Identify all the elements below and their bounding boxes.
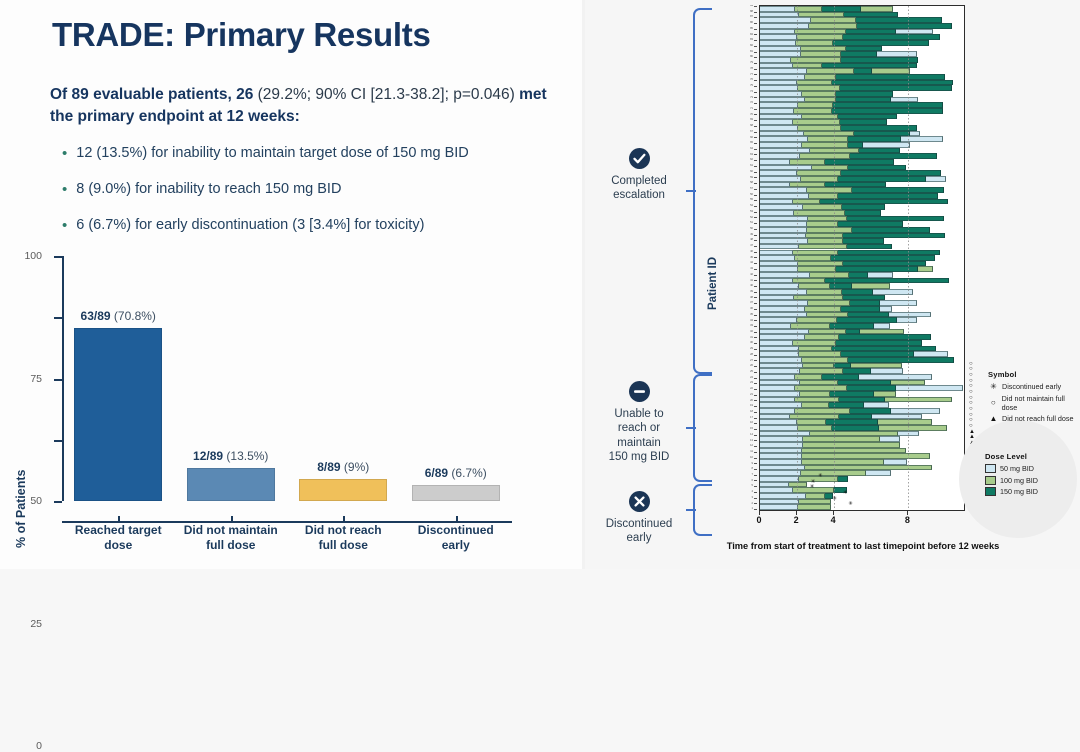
bar-chart-y-tick-label: 75 xyxy=(30,373,42,385)
swimmer-patient-id-tick: 57 xyxy=(750,188,757,191)
bar-chart-y-axis-label: % of Patients xyxy=(14,470,28,549)
bar-chart-y-tick: 75 xyxy=(54,317,62,319)
swimmer-patient-id-tick: 38 xyxy=(750,297,757,300)
dose-swatch xyxy=(985,464,996,473)
swimmer-patient-id-tick: 24 xyxy=(750,377,757,380)
bar xyxy=(412,485,500,501)
swimmer-patient-id-tick: 8 xyxy=(752,468,757,471)
bar-value-label: 12/89 (13.5%) xyxy=(193,449,268,463)
legend-symbol-title: Symbol xyxy=(988,370,1080,379)
bar-chart-bar-group: 12/89 (13.5%) xyxy=(175,256,288,501)
legend-item: 150 mg BID xyxy=(985,487,1077,496)
swimmer-patient-id-tick: 80 xyxy=(750,56,757,59)
slide-root: TRADE: Primary Results Of 89 evaluable p… xyxy=(0,0,1080,569)
swimmer-patient-id-tick: 35 xyxy=(750,314,757,317)
bullet-list: • 12 (13.5%) for inability to maintain t… xyxy=(62,144,582,252)
swimmer-patient-id-tick: 73 xyxy=(750,97,757,100)
bar-chart: % of Patients 0255075100 63/89 (70.8%)12… xyxy=(0,248,585,548)
swimmer-patient-id-tick: 89 xyxy=(750,5,757,8)
swimmer-dose-segment xyxy=(798,504,831,510)
brace-nub xyxy=(686,509,696,511)
list-item: • 8 (9.0%) for inability to reach 150 mg… xyxy=(62,180,582,198)
swimmer-patient-id-tick: 69 xyxy=(750,119,757,122)
bar-chart-category-label: Did not reachfull dose xyxy=(287,523,400,553)
legend-item-label: Did not maintain full dose xyxy=(1002,394,1080,412)
legend-item: ○ Did not maintain full dose xyxy=(988,394,1080,412)
swimmer-patient-id-tick: 64 xyxy=(750,148,757,151)
dose-swatch xyxy=(985,476,996,485)
swimmer-patient-id-tick: 61 xyxy=(750,165,757,168)
swimmer-patient-id-tick: 33 xyxy=(750,325,757,328)
swimmer-patient-id-tick: 83 xyxy=(750,39,757,42)
brace-unable-to-reach-or-maintain xyxy=(693,374,712,482)
dose-swatch xyxy=(985,487,996,496)
swimmer-patient-id-tick: 19 xyxy=(750,405,757,408)
legend-item: ✳ Discontinued early xyxy=(988,382,1080,391)
swimmer-patient-id-tick: 32 xyxy=(750,331,757,334)
swimmer-patient-id-tick: 12 xyxy=(750,445,757,448)
swimmer-dose-segment xyxy=(760,504,798,510)
swimmer-patient-id-tick: 55 xyxy=(750,199,757,202)
bar-chart-y-tick: 25 xyxy=(54,440,62,442)
swimmer-x-axis: 0248 xyxy=(759,511,965,519)
bar-chart-y-tick-label: 100 xyxy=(24,250,42,262)
list-item: • 6 (6.7%) for early discontinuation (3 … xyxy=(62,216,582,234)
legend-dose-level: Dose Level 50 mg BID 100 mg BID 150 mg B… xyxy=(985,452,1077,499)
left-panel: TRADE: Primary Results Of 89 evaluable p… xyxy=(0,0,585,569)
swimmer-patient-id-tick: 2 xyxy=(752,503,757,506)
annotation-label-line: Discontinued xyxy=(606,518,672,530)
bar-chart-category-label: Did not maintainfull dose xyxy=(175,523,288,553)
annotation-label-line: early xyxy=(627,532,652,544)
bullet-dot-icon: • xyxy=(62,218,67,233)
swimmer-patient-id-tick: 36 xyxy=(750,308,757,311)
marker-discontinued-early: ✳ xyxy=(832,497,837,503)
annotation-label-line: reach or xyxy=(618,422,660,434)
swimmer-patient-id-tick: 67 xyxy=(750,131,757,134)
swimmer-patient-id-tick: 29 xyxy=(750,348,757,351)
legend-item-label: 50 mg BID xyxy=(1000,464,1034,473)
swimmer-patient-id-tick: 81 xyxy=(750,51,757,54)
check-circle-icon xyxy=(629,148,650,169)
open-circle-icon: ○ xyxy=(988,399,999,407)
lede-part1: Of 89 evaluable patients, 26 xyxy=(50,86,253,103)
swimmer-patient-id-tick: 40 xyxy=(750,285,757,288)
marker-discontinued-early: ✳ xyxy=(818,474,823,480)
swimmer-patient-id-tick: 84 xyxy=(750,34,757,37)
bar-chart-x-tick xyxy=(456,516,458,523)
marker-discontinued-early: ✳ xyxy=(810,485,815,491)
swimmer-patient-id-tick: 10 xyxy=(750,457,757,460)
triangle-icon: ▲ xyxy=(988,415,999,423)
swimmer-patient-id-tick: 20 xyxy=(750,400,757,403)
annotation-unable-to-reach-or-maintain: Unable to reach or maintain 150 mg BID xyxy=(591,381,687,465)
swimmer-patient-id-tick: 6 xyxy=(752,480,757,483)
swimmer-patient-id-ticks: 8988878685848382818079787776757473727170… xyxy=(735,5,757,511)
swimmer-bar-row xyxy=(760,504,964,510)
swimmer-patient-id-tick: 27 xyxy=(750,360,757,363)
swimmer-patient-id-tick: 39 xyxy=(750,291,757,294)
swimmer-patient-id-tick: 75 xyxy=(750,85,757,88)
swimmer-patient-id-tick: 46 xyxy=(750,251,757,254)
swimmer-patient-id-tick: 58 xyxy=(750,182,757,185)
swimmer-x-tick-label: 8 xyxy=(905,515,910,525)
swimmer-patient-id-tick: 79 xyxy=(750,62,757,65)
swimmer-patient-id-tick: 5 xyxy=(752,485,757,488)
swimmer-x-tick-label: 0 xyxy=(756,515,761,525)
swimmer-patient-id-tick: 13 xyxy=(750,440,757,443)
bar-chart-x-tick xyxy=(231,516,233,523)
swimmer-patient-id-tick: 11 xyxy=(750,451,757,454)
bar-chart-x-tick xyxy=(343,516,345,523)
bar xyxy=(74,328,162,501)
swimmer-patient-id-tick: 31 xyxy=(750,337,757,340)
swimmer-patient-id-tick: 21 xyxy=(750,394,757,397)
bar-chart-y-tick: 100 xyxy=(54,256,62,258)
swimmer-patient-id-tick: 25 xyxy=(750,371,757,374)
swimmer-plot: 8988878685848382818079787776757473727170… xyxy=(735,5,985,533)
swimmer-patient-id-tick: 3 xyxy=(752,497,757,500)
swimmer-patient-id-tick: 44 xyxy=(750,262,757,265)
bar xyxy=(299,479,387,501)
swimmer-patient-id-tick: 23 xyxy=(750,382,757,385)
swimmer-patient-id-tick: 76 xyxy=(750,79,757,82)
legend-item: 100 mg BID xyxy=(985,476,1077,485)
swimmer-patient-id-tick: 68 xyxy=(750,125,757,128)
swimmer-patient-id-tick: 49 xyxy=(750,234,757,237)
legend-item-label: 100 mg BID xyxy=(1000,476,1038,485)
swimmer-x-tick-label: 4 xyxy=(831,515,836,525)
swimmer-x-axis-label: Time from start of treatment to last tim… xyxy=(673,541,1053,551)
swimmer-patient-id-tick: 34 xyxy=(750,320,757,323)
bar-chart-bar-group: 8/89 (9%) xyxy=(287,256,400,501)
swimmer-patient-id-tick: 86 xyxy=(750,22,757,25)
swimmer-gridline xyxy=(908,6,909,510)
bullet-text: 8 (9.0%) for inability to reach 150 mg B… xyxy=(76,180,341,198)
swimmer-patient-id-tick: 26 xyxy=(750,365,757,368)
swimmer-gridline xyxy=(834,6,835,510)
swimmer-patient-id-tick: 37 xyxy=(750,302,757,305)
swimmer-patient-id-tick: 42 xyxy=(750,274,757,277)
marker-discontinued-early: ✳ xyxy=(848,502,853,508)
swimmer-patient-id-tick: 85 xyxy=(750,28,757,31)
marker-discontinued-early: ✳ xyxy=(843,491,848,497)
swimmer-patient-id-tick: 60 xyxy=(750,171,757,174)
swimmer-patient-id-tick: 78 xyxy=(750,68,757,71)
brace-nub xyxy=(686,190,696,192)
bar-chart-category-label: Reached targetdose xyxy=(62,523,175,553)
swimmer-patient-id-tick: 47 xyxy=(750,245,757,248)
swimmer-patient-id-tick: 4 xyxy=(752,491,757,494)
bar-chart-plot-area: 0255075100 63/89 (70.8%)12/89 (13.5%)8/8… xyxy=(62,256,530,501)
legend-item-label: Did not reach full dose xyxy=(1002,414,1074,423)
swimmer-patient-id-tick: 30 xyxy=(750,342,757,345)
swimmer-patient-id-tick: 1 xyxy=(752,508,757,511)
swimmer-patient-id-tick: 28 xyxy=(750,354,757,357)
swimmer-patient-id-tick: 9 xyxy=(752,463,757,466)
swimmer-patient-id-tick: 52 xyxy=(750,217,757,220)
bar-chart-x-tick-labels: Reached targetdoseDid not maintainfull d… xyxy=(62,523,512,553)
lede-part2: (29.2%; 90% CI [21.3-38.2]; p=0.046) xyxy=(253,86,519,103)
annotation-completed-escalation: Completed escalation xyxy=(591,148,687,203)
swimmer-patient-id-tick: 82 xyxy=(750,45,757,48)
swimmer-patient-id-tick: 66 xyxy=(750,137,757,140)
bar-chart-bar-group: 6/89 (6.7%) xyxy=(400,256,513,501)
swimmer-patient-id-tick: 18 xyxy=(750,411,757,414)
bullet-dot-icon: • xyxy=(62,146,67,161)
annotation-label-line: Completed xyxy=(611,175,667,187)
legend-item-label: 150 mg BID xyxy=(1000,487,1038,496)
bar-chart-y-tick: 0 xyxy=(54,501,62,503)
primary-endpoint-summary: Of 89 evaluable patients, 26 (29.2%; 90%… xyxy=(50,84,570,129)
annotation-label-line: 150 mg BID xyxy=(609,451,670,463)
legend-dose-title: Dose Level xyxy=(985,452,1077,461)
bar-chart-bar-group: 63/89 (70.8%) xyxy=(62,256,175,501)
bullet-dot-icon: • xyxy=(62,182,67,197)
swimmer-patient-id-tick: 65 xyxy=(750,142,757,145)
x-circle-icon xyxy=(629,491,650,512)
swimmer-patient-id-tick: 7 xyxy=(752,474,757,477)
swimmer-gridline xyxy=(797,6,798,510)
bar-value-label: 8/89 (9%) xyxy=(317,460,369,474)
bullet-text: 12 (13.5%) for inability to maintain tar… xyxy=(76,144,469,162)
swimmer-y-axis-label: Patient ID xyxy=(707,257,719,310)
swimmer-patient-id-tick: 15 xyxy=(750,428,757,431)
brace-completed-escalation xyxy=(693,8,712,374)
annotation-label-line: maintain xyxy=(617,437,660,449)
bar xyxy=(187,468,275,501)
swimmer-patient-id-tick: 17 xyxy=(750,417,757,420)
swimmer-patient-id-tick: 43 xyxy=(750,268,757,271)
swimmer-patient-id-tick: 50 xyxy=(750,228,757,231)
bar-value-label: 63/89 (70.8%) xyxy=(81,309,156,323)
swimmer-patient-id-tick: 74 xyxy=(750,91,757,94)
swimmer-patient-id-tick: 41 xyxy=(750,280,757,283)
legend-item-label: Discontinued early xyxy=(1002,382,1061,391)
swimmer-patient-id-tick: 51 xyxy=(750,222,757,225)
swimmer-patient-id-tick: 54 xyxy=(750,205,757,208)
swimmer-patient-id-tick: 45 xyxy=(750,257,757,260)
page-title: TRADE: Primary Results xyxy=(52,17,431,53)
annotation-discontinued-early: Discontinued early xyxy=(591,491,687,546)
asterisk-icon: ✳ xyxy=(988,383,999,391)
swimmer-patient-id-tick: 22 xyxy=(750,388,757,391)
right-panel: Completed escalation Unable to reach or … xyxy=(585,0,1080,569)
legend-item: 50 mg BID xyxy=(985,464,1077,473)
swimmer-patient-id-tick: 63 xyxy=(750,154,757,157)
swimmer-patient-id-tick: 77 xyxy=(750,74,757,77)
legend-item: ▲ Did not reach full dose xyxy=(988,414,1080,423)
list-item: • 12 (13.5%) for inability to maintain t… xyxy=(62,144,582,162)
bar-chart-y-tick-label: 25 xyxy=(30,618,42,630)
bar-chart-category-label: Discontinuedearly xyxy=(400,523,513,553)
legend-symbol: Symbol ✳ Discontinued early ○ Did not ma… xyxy=(988,370,1080,426)
brace-nub xyxy=(686,427,696,429)
swimmer-patient-id-tick: 62 xyxy=(750,159,757,162)
minus-circle-icon xyxy=(629,381,650,402)
swimmer-patient-id-tick: 87 xyxy=(750,16,757,19)
swimmer-plot-area xyxy=(759,5,965,511)
swimmer-patient-id-tick: 71 xyxy=(750,108,757,111)
swimmer-patient-id-tick: 14 xyxy=(750,434,757,437)
bar-value-label: 6/89 (6.7%) xyxy=(425,466,487,480)
brace-discontinued-early xyxy=(693,484,712,536)
swimmer-patient-id-tick: 56 xyxy=(750,194,757,197)
annotation-label-line: Unable to xyxy=(614,408,663,420)
swimmer-patient-id-tick: 53 xyxy=(750,211,757,214)
swimmer-patient-id-tick: 70 xyxy=(750,114,757,117)
swimmer-patient-id-tick: 59 xyxy=(750,177,757,180)
swimmer-patient-id-tick: 72 xyxy=(750,102,757,105)
annotation-label-line: escalation xyxy=(613,189,665,201)
bar-chart-y-tick: 50 xyxy=(54,379,62,381)
bar-chart-y-tick-label: 0 xyxy=(36,740,42,752)
bar-chart-bars: 63/89 (70.8%)12/89 (13.5%)8/89 (9%)6/89 … xyxy=(62,256,512,501)
swimmer-patient-id-tick: 88 xyxy=(750,11,757,14)
bar-chart-y-tick-label: 50 xyxy=(30,495,42,507)
swimmer-patient-id-tick: 48 xyxy=(750,239,757,242)
bullet-text: 6 (6.7%) for early discontinuation (3 [3… xyxy=(76,216,424,234)
swimmer-x-tick-label: 2 xyxy=(794,515,799,525)
swimmer-patient-id-tick: 16 xyxy=(750,422,757,425)
bar-chart-x-tick xyxy=(118,516,120,523)
